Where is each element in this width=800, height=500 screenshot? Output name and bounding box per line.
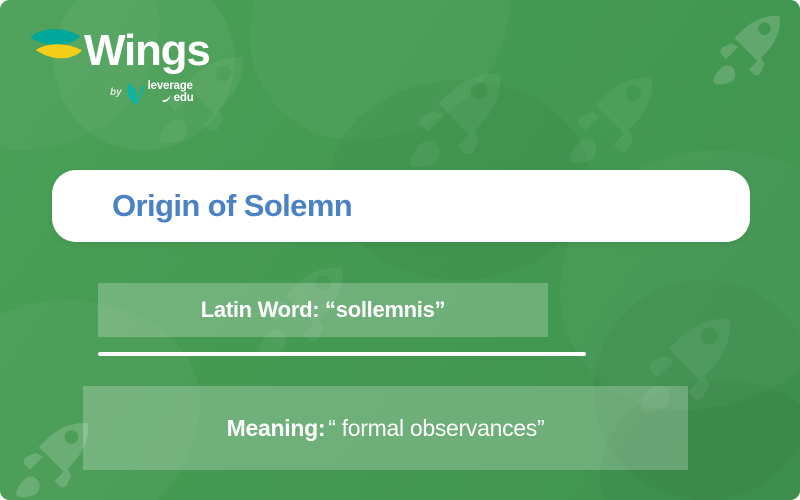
- rocket-icon: [560, 60, 680, 180]
- brand-sublogo: by leverage edu: [110, 80, 194, 106]
- title-card: Origin of Solemn: [52, 170, 750, 242]
- latin-word-bar: Latin Word: “sollemnis”: [98, 283, 548, 337]
- divider: [98, 352, 586, 356]
- latin-word-text: Latin Word: “sollemnis”: [201, 297, 446, 323]
- leverage-check-icon: [126, 80, 146, 106]
- swoosh-icon: [162, 94, 172, 103]
- meaning-label: Meaning:: [227, 415, 326, 441]
- meaning-value: “ formal observances”: [328, 415, 544, 441]
- infographic-canvas: Wings by leverage edu: [0, 0, 800, 500]
- rocket-icon: [706, 2, 800, 98]
- rocket-icon: [400, 55, 530, 185]
- page-title: Origin of Solemn: [112, 188, 352, 224]
- partner-line2-label: edu: [174, 93, 194, 105]
- brand-logo-row: Wings: [26, 22, 256, 78]
- brand-name: Wings: [84, 29, 210, 73]
- meaning-line: Meaning:“ formal observances”: [227, 415, 545, 442]
- meaning-bar: Meaning:“ formal observances”: [83, 386, 688, 470]
- partner-line2-row: edu: [162, 93, 194, 105]
- partner-name: leverage edu: [148, 81, 194, 104]
- brand-by-label: by: [110, 88, 122, 98]
- wing-icon: [26, 24, 88, 76]
- brand-logo: Wings by leverage edu: [26, 22, 256, 118]
